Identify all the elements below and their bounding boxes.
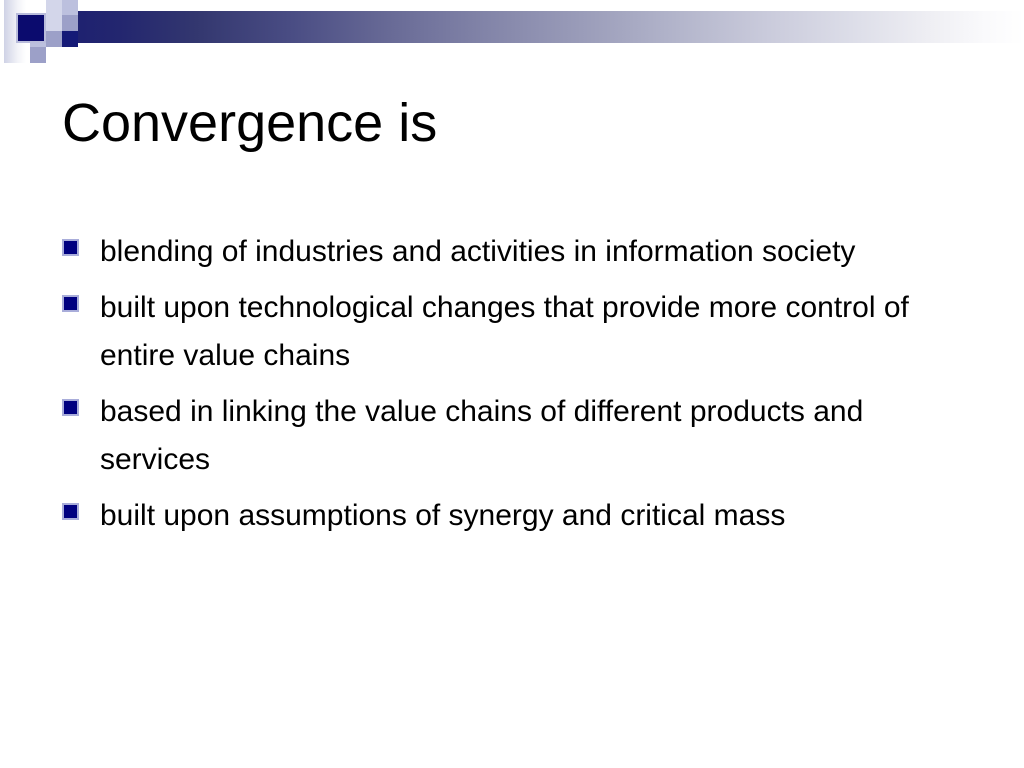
header-left-gradient-strip [4, 0, 26, 63]
header-square-navy-1 [62, 31, 78, 47]
header-accent-square-icon [18, 15, 44, 41]
list-item-text: built upon assumptions of synergy and cr… [100, 492, 962, 540]
header-square-mid-2 [46, 31, 62, 47]
list-item: blending of industries and activities in… [62, 228, 962, 276]
list-item: based in linking the value chains of dif… [62, 388, 962, 484]
header-square-pale-2 [46, 15, 62, 31]
header-gradient-bar [62, 11, 1024, 43]
header-square-mid-1 [62, 15, 78, 31]
bullet-list: blending of industries and activities in… [62, 228, 962, 548]
square-bullet-icon [64, 401, 77, 414]
slide-header-decoration [0, 0, 1024, 80]
square-bullet-icon [64, 505, 77, 518]
list-item: built upon assumptions of synergy and cr… [62, 492, 962, 540]
page-title: Convergence is [62, 92, 962, 154]
header-square-light-2 [30, 15, 46, 31]
header-square-light-1 [62, 0, 78, 16]
header-square-mid-3 [30, 47, 46, 63]
header-square-light-3 [30, 31, 46, 47]
square-bullet-icon [64, 241, 77, 254]
slide-canvas: Convergence is blending of industries an… [0, 0, 1024, 768]
list-item: built upon technological changes that pr… [62, 284, 962, 380]
square-bullet-icon [64, 297, 77, 310]
header-square-pale-1 [46, 0, 62, 16]
list-item-text: blending of industries and activities in… [100, 228, 962, 276]
list-item-text: based in linking the value chains of dif… [100, 388, 962, 484]
list-item-text: built upon technological changes that pr… [100, 284, 962, 380]
